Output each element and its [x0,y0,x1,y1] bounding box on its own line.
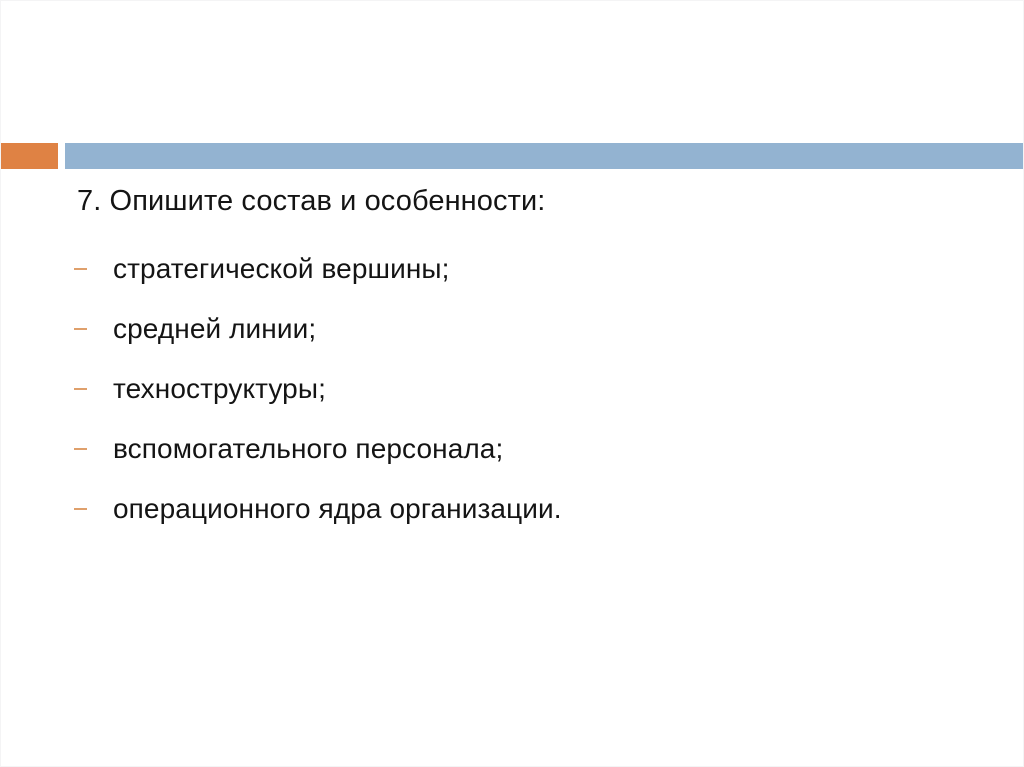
list-item-label: стратегической вершины; [113,239,449,299]
dash-bullet-icon [74,508,87,510]
list-item: операционного ядра организации. [1,479,1024,539]
list-item: стратегической вершины; [1,239,1024,299]
list-item-label: средней линии; [113,299,316,359]
dash-bullet-icon [74,448,87,450]
dash-bullet-icon [74,388,87,390]
dash-bullet-icon [74,268,87,270]
slide-content: 7. Опишите состав и особенности: стратег… [1,179,1024,539]
list-item: средней линии; [1,299,1024,359]
presentation-slide: 7. Опишите состав и особенности: стратег… [0,0,1024,767]
list-item: вспомогательного персонала; [1,419,1024,479]
list-item: техноструктуры; [1,359,1024,419]
dash-bullet-icon [74,328,87,330]
list-item-label: операционного ядра организации. [113,479,562,539]
page-title: 7. Опишите состав и особенности: [1,179,1024,223]
header-accent-bar-blue [65,143,1024,169]
list-item-label: техноструктуры; [113,359,326,419]
header-accent-bar-orange [1,143,58,169]
list-item-label: вспомогательного персонала; [113,419,503,479]
bullet-list: стратегической вершины; средней линии; т… [1,239,1024,539]
